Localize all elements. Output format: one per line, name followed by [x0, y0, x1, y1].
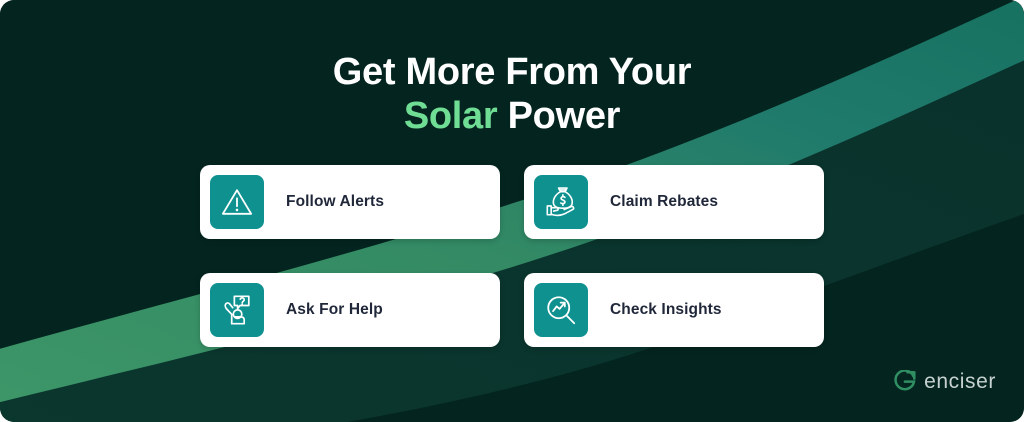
feature-card-label: Check Insights	[610, 301, 722, 319]
promo-banner: Get More From Your Solar Power Follow Al…	[0, 0, 1024, 422]
brand-logo: enciser	[893, 370, 996, 394]
person-question-icon	[210, 283, 264, 337]
feature-card-check-insights[interactable]: Check Insights	[524, 273, 824, 347]
feature-card-ask-for-help[interactable]: Ask For Help	[200, 273, 500, 347]
feature-card-label: Follow Alerts	[286, 193, 384, 211]
money-bag-hand-icon	[534, 175, 588, 229]
circular-e-icon	[893, 370, 917, 394]
feature-card-follow-alerts[interactable]: Follow Alerts	[200, 165, 500, 239]
magnifier-chart-icon	[534, 283, 588, 337]
heading-accent-word: Solar	[404, 95, 498, 137]
brand-logo-text: enciser	[924, 370, 996, 394]
heading-line-1: Get More From Your	[333, 51, 691, 93]
warning-triangle-icon	[210, 175, 264, 229]
feature-card-label: Ask For Help	[286, 301, 383, 319]
page-title: Get More From Your Solar Power	[0, 51, 1024, 138]
banner-content: Get More From Your Solar Power Follow Al…	[0, 0, 1024, 422]
feature-card-grid: Follow Alerts Claim	[200, 165, 824, 347]
feature-card-claim-rebates[interactable]: Claim Rebates	[524, 165, 824, 239]
feature-card-label: Claim Rebates	[610, 193, 718, 211]
heading-line-2-rest: Power	[497, 95, 620, 137]
heading-line-2: Solar Power	[0, 95, 1024, 138]
